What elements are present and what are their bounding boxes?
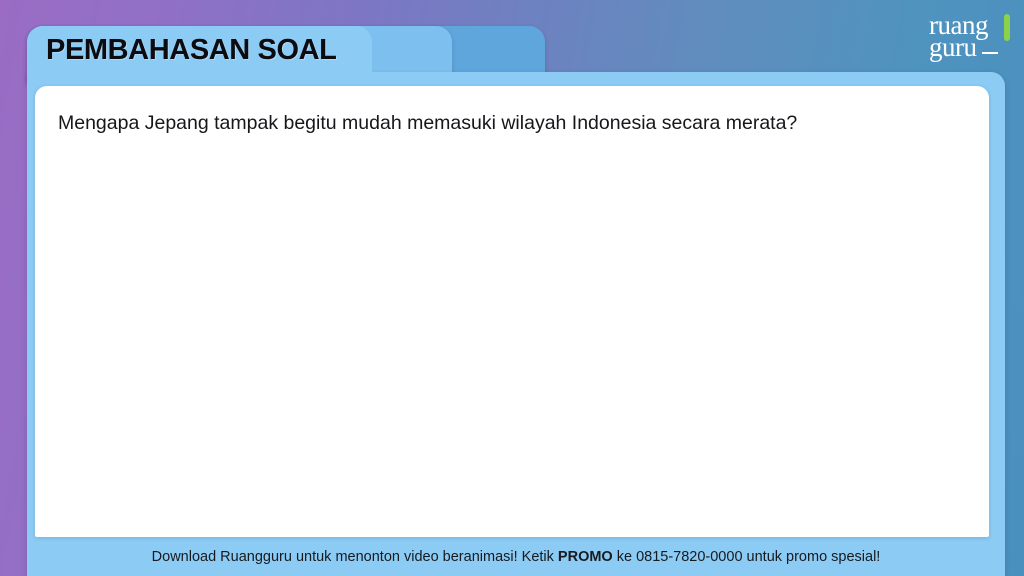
footer-promo-keyword: PROMO [558, 549, 613, 565]
footer-text-after: ke 0815-7820-0000 untuk promo spesial! [613, 549, 881, 565]
page-title: PEMBAHASAN SOAL [46, 34, 336, 67]
logo-underline-icon [982, 52, 998, 54]
footer-text-before: Download Ruangguru untuk menonton video … [152, 549, 558, 565]
content-panel: Mengapa Jepang tampak begitu mudah memas… [35, 86, 989, 537]
footer-promo-strip: Download Ruangguru untuk menonton video … [27, 537, 1005, 576]
question-text: Mengapa Jepang tampak begitu mudah memas… [58, 108, 965, 138]
logo-line-guru: guru [929, 36, 988, 58]
slide-canvas: PEMBAHASAN SOAL Mengapa Jepang tampak be… [0, 0, 1024, 576]
footer-promo-text: Download Ruangguru untuk menonton video … [152, 549, 881, 565]
green-bar-marker-icon [1004, 14, 1010, 41]
ruangguru-logo: ruang guru [929, 14, 988, 58]
